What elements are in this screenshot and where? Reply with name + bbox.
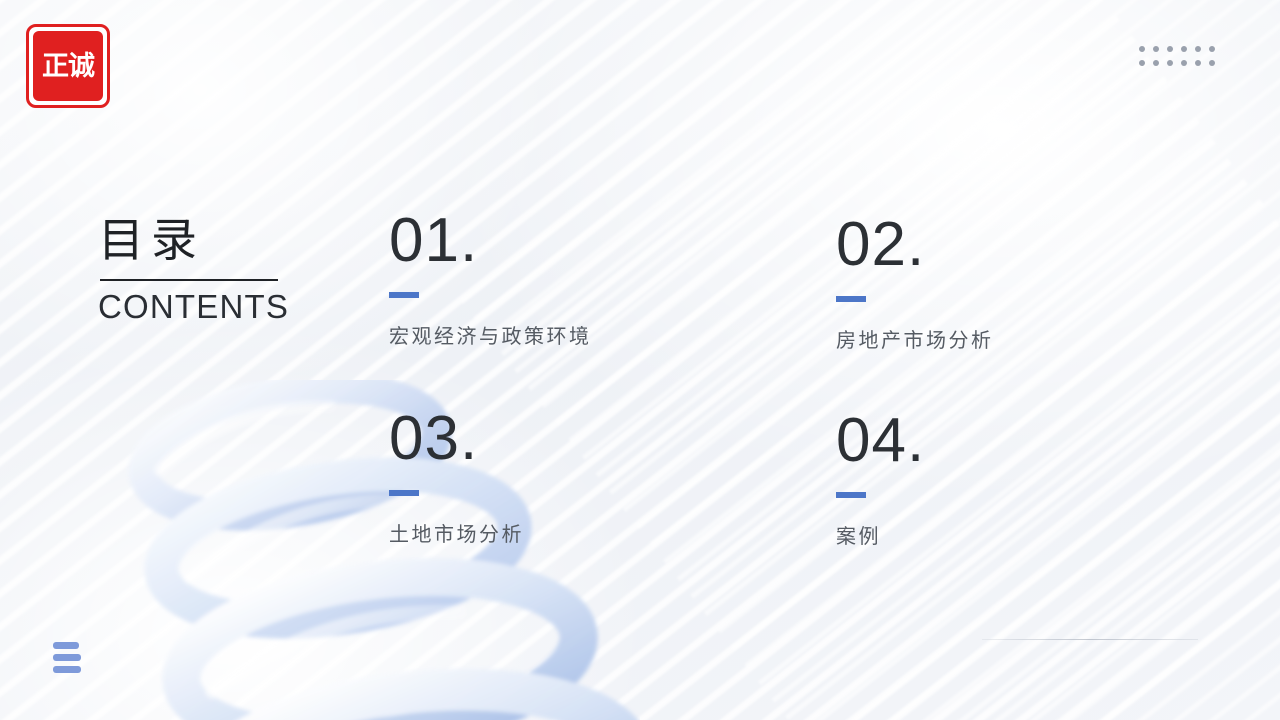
logo-mark: 正诚 [33, 31, 103, 101]
page-title-chinese: 目录 [98, 214, 398, 267]
toc-label: 房地产市场分析 [836, 328, 994, 352]
toc-label: 土地市场分析 [389, 522, 524, 546]
hamburger-menu-icon[interactable] [53, 642, 81, 673]
grid-dot [1209, 60, 1215, 66]
toc-number: 04. [836, 410, 925, 472]
toc-item-04[interactable]: 04. 案例 [836, 410, 925, 548]
toc-item-01[interactable]: 01. 宏观经济与政策环境 [389, 210, 592, 348]
company-logo: 正诚 [26, 24, 110, 108]
toc-number: 01. [389, 210, 592, 272]
menu-bar [53, 642, 79, 649]
grid-dot [1139, 46, 1145, 52]
grid-dot [1167, 60, 1173, 66]
grid-dot [1139, 60, 1145, 66]
toc-accent-bar [836, 296, 866, 302]
horizontal-rule-decoration [982, 639, 1198, 640]
toc-item-02[interactable]: 02. 房地产市场分析 [836, 214, 994, 352]
grid-dot [1181, 60, 1187, 66]
grid-dot [1153, 46, 1159, 52]
toc-accent-bar [389, 292, 419, 298]
grid-dot [1167, 46, 1173, 52]
grid-dot [1209, 46, 1215, 52]
toc-label: 案例 [836, 524, 925, 548]
grid-dot [1195, 46, 1201, 52]
title-divider [100, 279, 278, 281]
dot-grid-icon [1135, 42, 1219, 70]
toc-accent-bar [389, 490, 419, 496]
grid-dot [1181, 46, 1187, 52]
grid-dot [1153, 60, 1159, 66]
toc-label: 宏观经济与政策环境 [389, 324, 592, 348]
slide-background [0, 0, 1280, 720]
menu-bar [53, 654, 81, 661]
logo-text: 正诚 [42, 53, 94, 80]
menu-bar [53, 666, 81, 673]
toc-accent-bar [836, 492, 866, 498]
page-title-english: CONTENTS [98, 287, 398, 327]
contents-heading: 目录 CONTENTS [98, 214, 398, 326]
toc-number: 03. [389, 408, 524, 470]
grid-dot [1195, 60, 1201, 66]
presentation-slide: 正诚 目录 CONTENTS 01. 宏观经济与政策环境 02. 房地产市场分析… [0, 0, 1280, 720]
toc-item-03[interactable]: 03. 土地市场分析 [389, 408, 524, 546]
toc-number: 02. [836, 214, 994, 276]
